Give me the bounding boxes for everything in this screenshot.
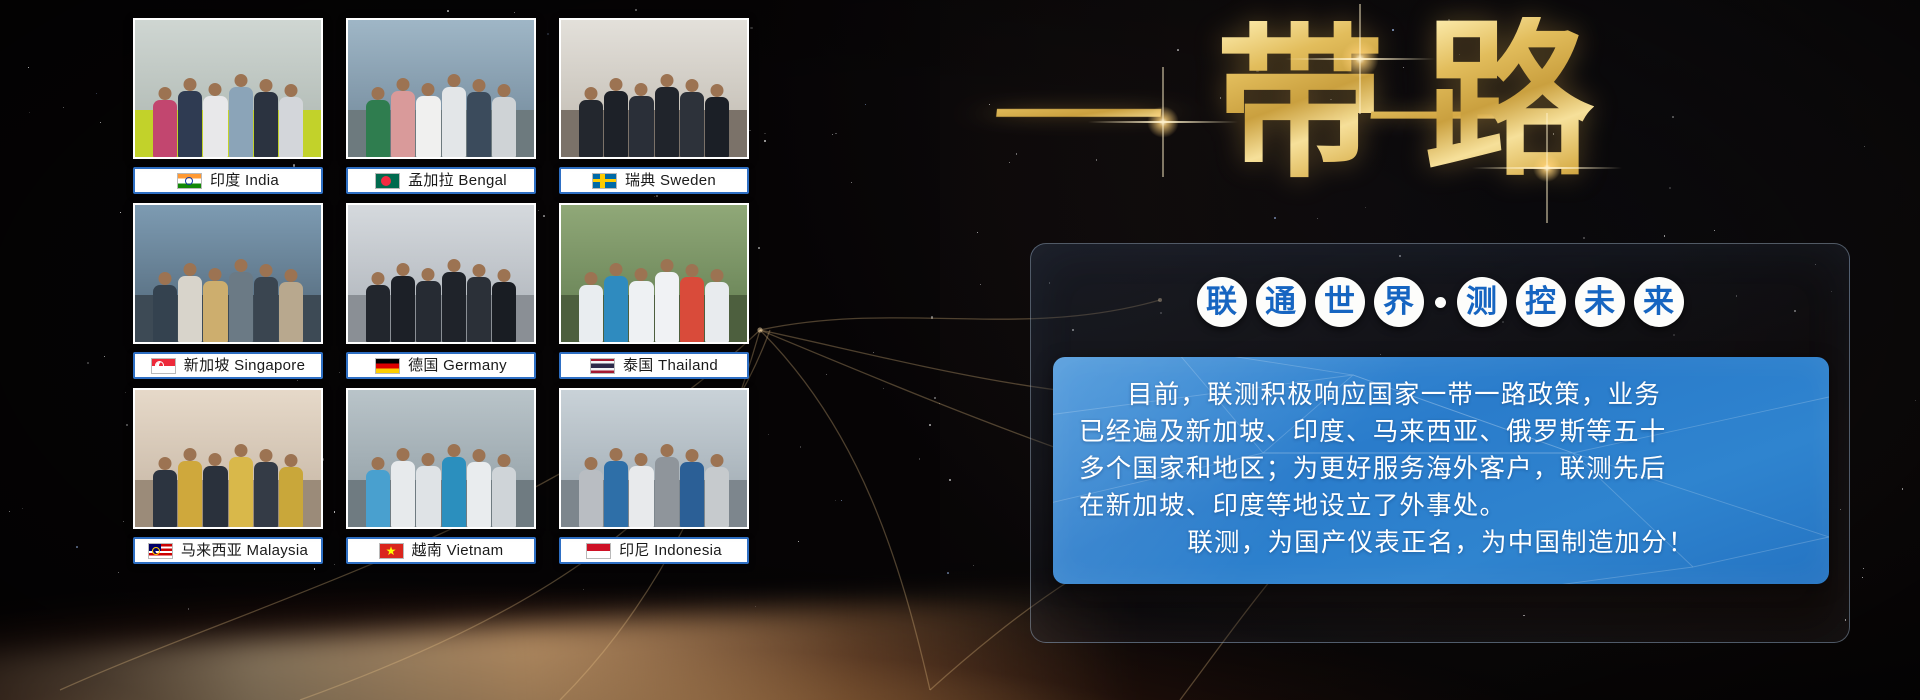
caption-label-malaysia: 马来西亚 Malaysia <box>181 543 308 558</box>
person-silhouette <box>229 272 253 342</box>
caption-label-thailand: 泰国 Thailand <box>623 358 718 373</box>
info-panel: 联通世界测控未来 目前，联测积极响应国家一带一路政策，业务已经遍及新加坡、印度、… <box>1030 243 1850 643</box>
star-dot <box>9 511 10 512</box>
photo-card-malaysia[interactable]: 马来西亚 Malaysia <box>133 388 323 564</box>
photo-thumbnail-sweden[interactable] <box>559 18 749 159</box>
slogan-chip: 联 <box>1197 277 1247 327</box>
photo-thumbnail-bengal[interactable] <box>346 18 536 159</box>
star-dot <box>22 508 23 509</box>
person-silhouette <box>579 470 603 527</box>
person-silhouette <box>391 276 415 342</box>
star-dot <box>314 568 316 570</box>
person-silhouette <box>604 461 628 527</box>
star-dot <box>934 397 936 399</box>
photo-group-of-people <box>348 58 534 157</box>
star-dot <box>96 93 97 94</box>
photo-card-sweden[interactable]: 瑞典 Sweden <box>559 18 749 194</box>
person-silhouette <box>366 470 390 527</box>
flag-singapore-icon <box>151 358 176 374</box>
slogan-chip: 界 <box>1374 277 1424 327</box>
star-dot <box>125 392 126 393</box>
caption-germany[interactable]: 德国 Germany <box>346 352 536 379</box>
person-silhouette <box>178 461 202 527</box>
caption-label-sweden: 瑞典 Sweden <box>625 173 716 188</box>
star-dot <box>447 10 449 12</box>
person-silhouette <box>655 457 679 527</box>
person-silhouette <box>153 100 177 157</box>
slogan-row: 联通世界测控未来 <box>1053 271 1827 333</box>
photo-thumbnail-thailand[interactable] <box>559 203 749 344</box>
star-dot <box>931 316 933 318</box>
star-dot <box>800 446 802 448</box>
person-silhouette <box>366 285 390 342</box>
caption-india[interactable]: 印度 India <box>133 167 323 194</box>
photo-card-thailand[interactable]: 泰国 Thailand <box>559 203 749 379</box>
person-silhouette <box>579 100 603 157</box>
photo-group-of-people <box>561 58 747 157</box>
flag-germany-icon <box>375 358 400 374</box>
person-silhouette <box>279 467 303 527</box>
photo-thumbnail-indonesia[interactable] <box>559 388 749 529</box>
description-box: 目前，联测积极响应国家一带一路政策，业务已经遍及新加坡、印度、马来西亚、俄罗斯等… <box>1053 357 1829 584</box>
person-silhouette <box>492 282 516 342</box>
star-dot <box>188 608 189 609</box>
flag-bangladesh-icon <box>375 173 400 189</box>
star-dot <box>764 140 766 142</box>
person-silhouette <box>467 277 491 342</box>
slogan-chip: 测 <box>1457 277 1507 327</box>
photo-group-of-people <box>135 243 321 342</box>
person-silhouette <box>579 285 603 342</box>
slogan-separator-dot <box>1435 297 1446 308</box>
caption-sweden[interactable]: 瑞典 Sweden <box>559 167 749 194</box>
flag-sweden-icon <box>592 173 617 189</box>
star-dot <box>635 9 637 11</box>
person-silhouette <box>178 91 202 157</box>
photo-card-indonesia[interactable]: 印尼 Indonesia <box>559 388 749 564</box>
calligraphy-char-4: 路 <box>1424 17 1594 187</box>
photo-group-of-people <box>348 428 534 527</box>
slogan-chip: 来 <box>1634 277 1684 327</box>
description-line: 目前，联测积极响应国家一带一路政策，业务 <box>1079 377 1803 414</box>
person-silhouette <box>655 272 679 342</box>
description-line: 联测，为国产仪表正名，为中国制造加分！ <box>1079 525 1803 562</box>
star-dot <box>841 500 842 501</box>
flag-thailand-icon <box>590 358 615 374</box>
description-line: 在新加坡、印度等地设立了外事处。 <box>1079 488 1803 525</box>
star-dot <box>835 133 837 135</box>
flag-indonesia-icon <box>586 543 611 559</box>
photo-card-india[interactable]: 印度 India <box>133 18 323 194</box>
description-lines: 目前，联测积极响应国家一带一路政策，业务已经遍及新加坡、印度、马来西亚、俄罗斯等… <box>1079 377 1803 562</box>
photo-card-germany[interactable]: 德国 Germany <box>346 203 536 379</box>
person-silhouette <box>391 91 415 157</box>
photo-group-of-people <box>561 428 747 527</box>
person-silhouette <box>391 461 415 527</box>
star-dot <box>851 182 852 183</box>
caption-bengal[interactable]: 孟加拉 Bengal <box>346 167 536 194</box>
person-silhouette <box>254 92 278 157</box>
caption-label-singapore: 新加坡 Singapore <box>184 358 305 373</box>
flag-vietnam-icon <box>379 543 404 559</box>
person-silhouette <box>153 285 177 342</box>
star-dot <box>126 424 128 426</box>
calligraphy-title: 一 带 一 路 <box>1020 5 1590 215</box>
person-silhouette <box>279 282 303 342</box>
person-silhouette <box>680 92 704 157</box>
person-silhouette <box>629 281 653 342</box>
person-silhouette <box>203 466 227 527</box>
photo-thumbnail-singapore[interactable] <box>133 203 323 344</box>
person-silhouette <box>229 87 253 157</box>
photo-group-of-people <box>135 58 321 157</box>
star-dot <box>583 589 584 590</box>
person-silhouette <box>705 97 729 157</box>
photo-thumbnail-germany[interactable] <box>346 203 536 344</box>
description-line: 多个国家和地区；为更好服务海外客户，联测先后 <box>1079 451 1803 488</box>
calligraphy-char-2: 带 <box>1216 21 1384 189</box>
star-dot <box>87 362 89 364</box>
person-silhouette <box>442 87 466 157</box>
person-silhouette <box>655 87 679 157</box>
person-silhouette <box>254 462 278 527</box>
photo-group-of-people <box>561 243 747 342</box>
star-dot <box>835 500 836 501</box>
photo-group-of-people <box>135 428 321 527</box>
slogan-chip: 未 <box>1575 277 1625 327</box>
person-silhouette <box>153 470 177 527</box>
star-dot <box>883 388 884 389</box>
slogan-chip: 通 <box>1256 277 1306 327</box>
person-silhouette <box>416 281 440 342</box>
photo-group-of-people <box>348 243 534 342</box>
background-horizon-glow <box>0 591 1132 700</box>
photo-thumbnail-malaysia[interactable] <box>133 388 323 529</box>
banner-root: 印度 India孟加拉 Bengal瑞典 Sweden新加坡 Singapore… <box>0 0 1920 700</box>
slogan-chip: 控 <box>1516 277 1566 327</box>
person-silhouette <box>629 96 653 157</box>
photo-thumbnail-vietnam[interactable] <box>346 388 536 529</box>
caption-indonesia[interactable]: 印尼 Indonesia <box>559 537 749 564</box>
star-dot <box>514 12 515 13</box>
caption-label-germany: 德国 Germany <box>408 358 507 373</box>
person-silhouette <box>467 92 491 157</box>
person-silhouette <box>416 466 440 527</box>
star-dot <box>118 572 119 573</box>
star-dot <box>798 541 799 542</box>
caption-singapore[interactable]: 新加坡 Singapore <box>133 352 323 379</box>
caption-malaysia[interactable]: 马来西亚 Malaysia <box>133 537 323 564</box>
flag-malaysia-icon <box>148 543 173 559</box>
person-silhouette <box>416 96 440 157</box>
star-dot <box>104 356 105 357</box>
person-silhouette <box>366 100 390 157</box>
caption-label-vietnam: 越南 Vietnam <box>412 543 504 558</box>
person-silhouette <box>604 91 628 157</box>
photo-card-vietnam[interactable]: 越南 Vietnam <box>346 388 536 564</box>
caption-label-indonesia: 印尼 Indonesia <box>619 543 722 558</box>
person-silhouette <box>680 462 704 527</box>
slogan-chip: 世 <box>1315 277 1365 327</box>
star-dot <box>755 606 756 607</box>
person-silhouette <box>705 467 729 527</box>
person-silhouette <box>178 276 202 342</box>
person-silhouette <box>203 281 227 342</box>
person-silhouette <box>442 457 466 527</box>
star-dot <box>768 434 769 435</box>
person-silhouette <box>492 467 516 527</box>
person-silhouette <box>279 97 303 157</box>
star-dot <box>63 107 64 108</box>
star-dot <box>76 546 78 548</box>
person-silhouette <box>604 276 628 342</box>
caption-label-bengal: 孟加拉 Bengal <box>408 173 507 188</box>
star-dot <box>865 104 866 105</box>
person-silhouette <box>203 96 227 157</box>
star-dot <box>832 134 833 135</box>
star-dot <box>120 212 121 213</box>
person-silhouette <box>705 282 729 342</box>
person-silhouette <box>442 272 466 342</box>
person-silhouette <box>492 97 516 157</box>
description-line: 已经遍及新加坡、印度、马来西亚、俄罗斯等五十 <box>1079 414 1803 451</box>
caption-label-india: 印度 India <box>210 173 279 188</box>
person-silhouette <box>229 457 253 527</box>
star-dot <box>873 352 874 353</box>
star-dot <box>123 521 124 522</box>
star-dot <box>919 458 920 459</box>
caption-vietnam[interactable]: 越南 Vietnam <box>346 537 536 564</box>
country-photo-grid: 印度 India孟加拉 Bengal瑞典 Sweden新加坡 Singapore… <box>133 18 759 566</box>
photo-card-singapore[interactable]: 新加坡 Singapore <box>133 203 323 379</box>
star-dot <box>28 67 29 68</box>
photo-card-bengal[interactable]: 孟加拉 Bengal <box>346 18 536 194</box>
star-dot <box>29 112 30 113</box>
star-dot <box>764 133 765 134</box>
star-dot <box>826 374 827 375</box>
star-dot <box>100 122 101 123</box>
star-dot <box>929 424 931 426</box>
flag-india-icon <box>177 173 202 189</box>
photo-thumbnail-india[interactable] <box>133 18 323 159</box>
person-silhouette <box>467 462 491 527</box>
person-silhouette <box>629 466 653 527</box>
caption-thailand[interactable]: 泰国 Thailand <box>559 352 749 379</box>
person-silhouette <box>254 277 278 342</box>
calligraphy-char-1: 一 <box>988 82 1169 151</box>
person-silhouette <box>680 277 704 342</box>
